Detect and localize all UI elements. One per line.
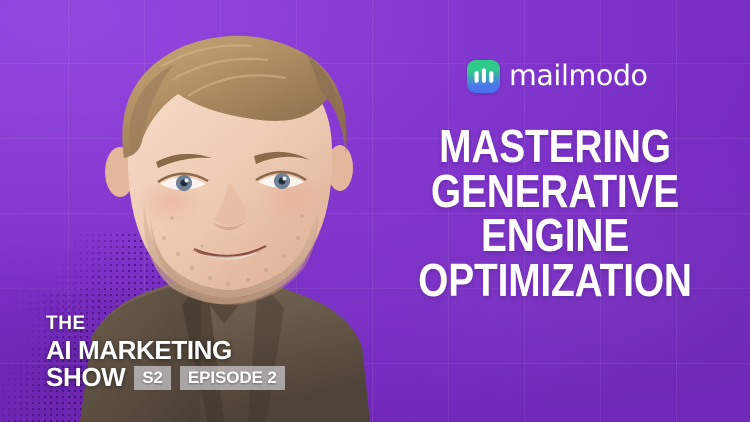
show-prefix: THE <box>46 314 285 333</box>
show-name-row: SHOW S2 EPISODE 2 <box>46 364 285 392</box>
brand-lockup: mailmodo <box>467 60 648 93</box>
episode-title: MASTERING GENERATIVE ENGINE OPTIMIZATION <box>390 124 720 302</box>
podcast-thumbnail: mailmodo MASTERING GENERATIVE ENGINE OPT… <box>0 0 750 422</box>
season-badge: S2 <box>134 366 171 390</box>
title-line-4: OPTIMIZATION <box>416 258 695 303</box>
episode-badge: EPISODE 2 <box>180 366 285 390</box>
title-line-2: GENERATIVE <box>416 169 695 214</box>
show-name-line-2: SHOW <box>46 364 125 392</box>
title-line-3: ENGINE <box>416 213 695 258</box>
show-name-line-1: AI MARKETING <box>46 337 285 365</box>
show-branding: THE AI MARKETING SHOW S2 EPISODE 2 <box>46 314 285 392</box>
mailmodo-logo-icon <box>467 60 500 93</box>
brand-name: mailmodo <box>509 62 648 91</box>
title-line-1: MASTERING <box>416 124 695 169</box>
